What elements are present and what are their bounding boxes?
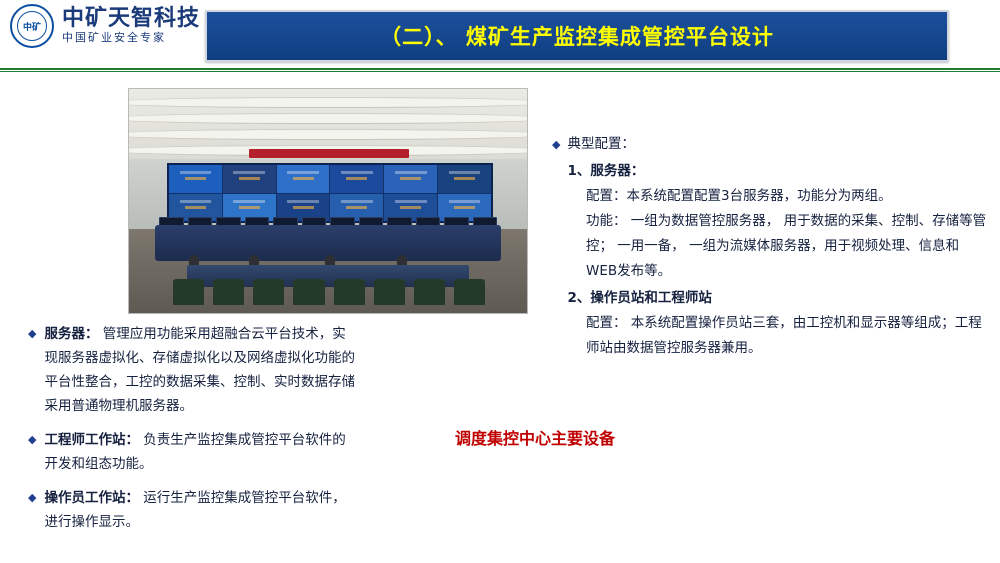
right-item-2-label: 2、操作员站和工程师站: [567, 286, 711, 311]
company-name: 中矿天智科技: [62, 7, 200, 31]
diamond-bullet-icon-3: ◆: [28, 486, 36, 510]
photo-video-wall: [167, 163, 493, 223]
logo-emblem-icon: 中矿: [10, 4, 54, 48]
left-item-operator-station: ◆ 操作员工作站： 运行生产监控集成管控平台软件，进行操作显示。: [28, 486, 358, 534]
diamond-bullet-icon: ◆: [552, 132, 560, 157]
slide-title-bar: （二）、 煤矿生产监控集成管控平台设计: [205, 10, 949, 62]
company-logo: 中矿 中矿天智科技 中国矿业安全专家: [10, 4, 200, 48]
photo-banner: [249, 149, 409, 158]
left-item-engineer-title: 工程师工作站：: [44, 432, 139, 448]
company-tagline: 中国矿业安全专家: [62, 31, 200, 45]
figure-caption: 调度集控中心主要设备: [455, 425, 755, 449]
header-divider: [0, 68, 1000, 70]
right-item-1-label: 1、服务器：: [567, 159, 644, 184]
right-item-2-config: 配置： 本系统配置操作员站三套，由工控机和显示器等组成；工程师站由数据管控服务器…: [552, 311, 988, 361]
diamond-bullet-icon-1: ◆: [28, 322, 36, 346]
right-item-1-function: 功能： 一组为数据管控服务器， 用于数据的采集、控制、存储等管控； 一用一备， …: [552, 209, 988, 284]
header-divider-secondary: [0, 71, 1000, 72]
control-center-photo: [128, 88, 528, 314]
left-item-engineer-station: ◆ 工程师工作站： 负责生产监控集成管控平台软件的开发和组态功能。: [28, 428, 358, 476]
right-text-column: ◆ 典型配置： ◆ 1、服务器： 配置：本系统配置配置3台服务器，功能分为两组。…: [552, 132, 988, 361]
logo-emblem-text: 中矿: [17, 11, 47, 41]
photo-chairs: [173, 279, 485, 309]
left-item-server-title: 服务器：: [44, 326, 98, 342]
left-item-server: ◆ 服务器： 管理应用功能采用超融合云平台技术，实现服务器虚拟化、存储虚拟化以及…: [28, 322, 358, 418]
right-item-2-row: ◆ 2、操作员站和工程师站: [552, 286, 988, 311]
right-heading: 典型配置：: [567, 132, 635, 157]
right-item-1-row: ◆ 1、服务器：: [552, 159, 988, 184]
left-text-column: ◆ 服务器： 管理应用功能采用超融合云平台技术，实现服务器虚拟化、存储虚拟化以及…: [28, 322, 358, 544]
right-heading-row: ◆ 典型配置：: [552, 132, 988, 157]
slide-header: 中矿 中矿天智科技 中国矿业安全专家 （二）、 煤矿生产监控集成管控平台设计: [0, 0, 1000, 68]
diamond-bullet-icon-2: ◆: [28, 428, 36, 452]
slide-title: （二）、 煤矿生产监控集成管控平台设计: [380, 21, 774, 51]
left-item-operator-title: 操作员工作站：: [44, 490, 139, 506]
footer-spacer: [0, 559, 1000, 563]
right-item-1-config: 配置：本系统配置配置3台服务器，功能分为两组。: [552, 184, 988, 209]
